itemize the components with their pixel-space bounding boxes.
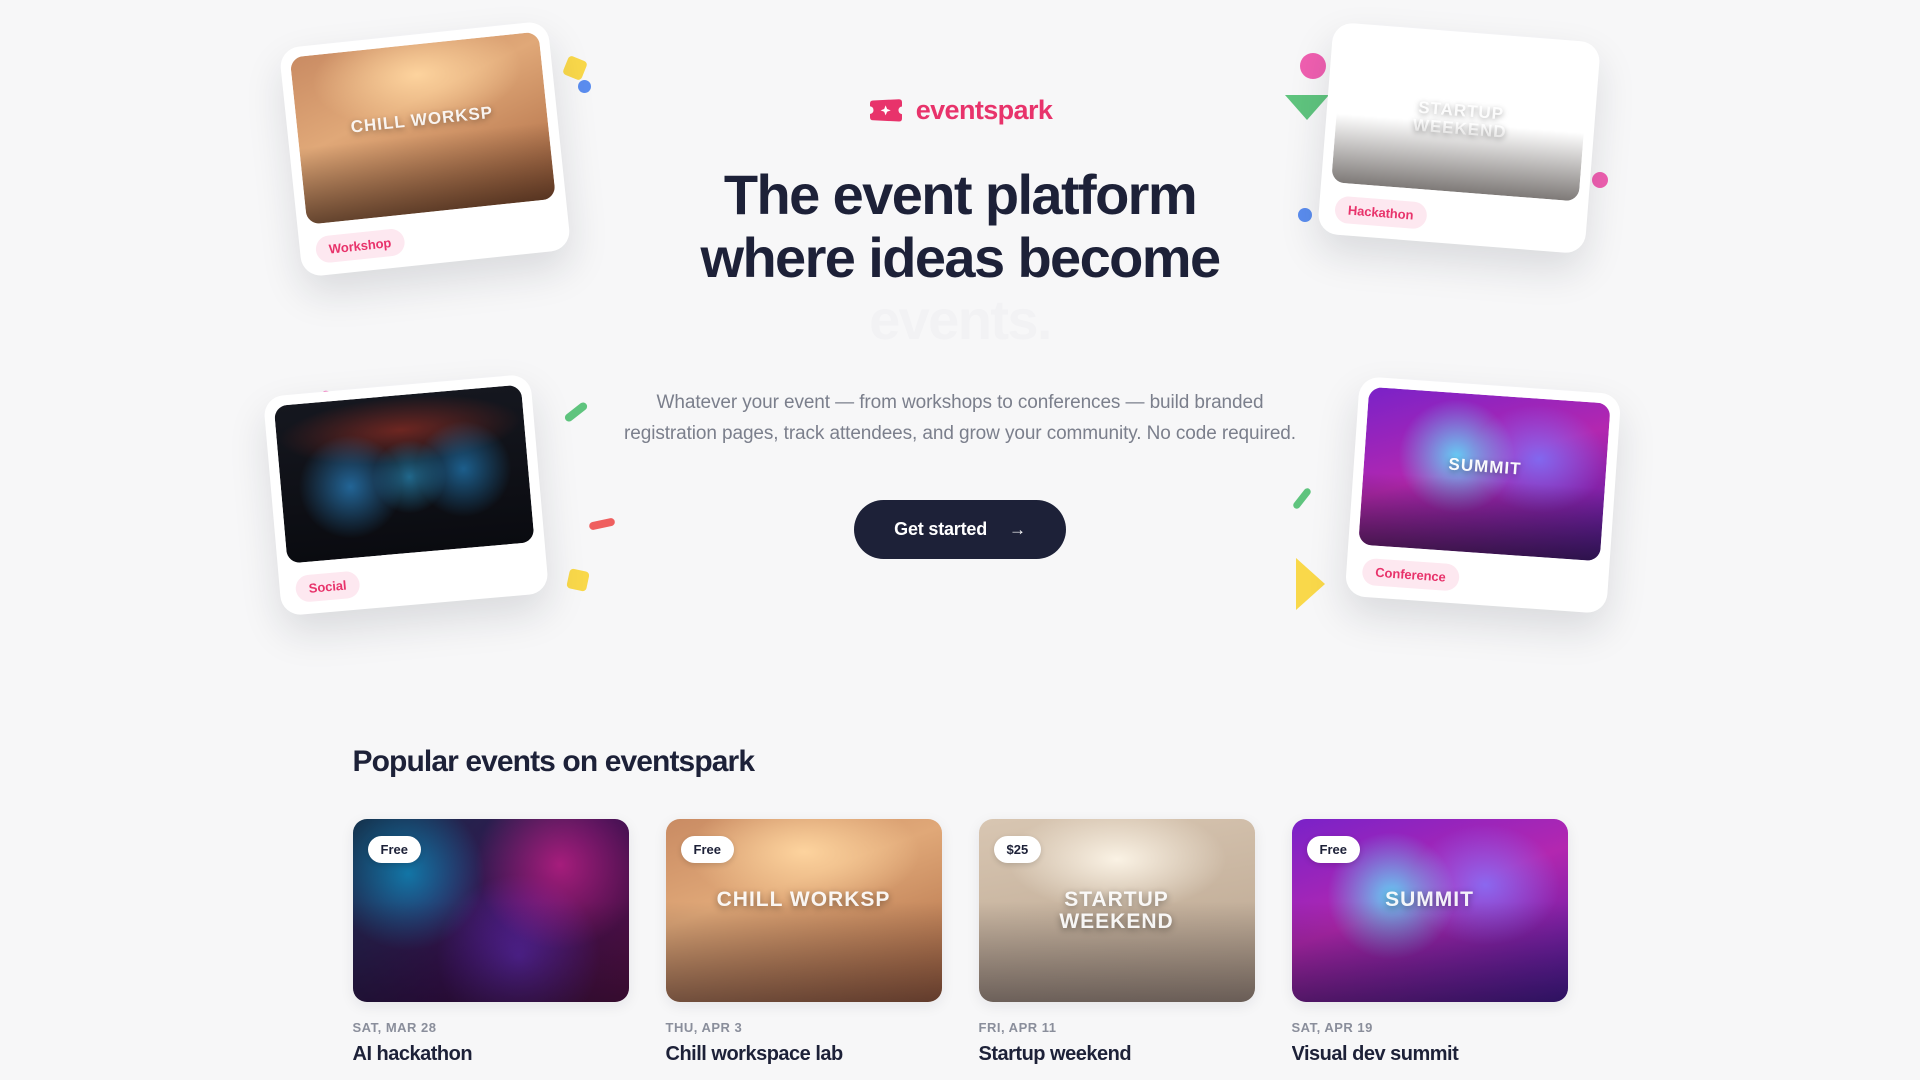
page-title: The event platform where ideas become ev… [610,164,1310,352]
hero-content: eventspark The event platform where idea… [610,95,1310,559]
confetti-dot [1592,172,1608,188]
hero-card-tag: Workshop [315,227,406,263]
headline-line-2: where ideas become [700,226,1219,289]
thumbnail-caption: SUMMIT [1292,889,1568,911]
event-card[interactable]: SUMMITFreeSAT, APR 19Visual dev summit [1292,819,1568,1066]
event-thumbnail: CHILL WORKSPFree [666,819,942,1002]
hero-card-photo: CHILL WORKSP [290,32,556,225]
event-name: Startup weekend [979,1043,1255,1066]
photo-caption [279,448,526,470]
confetti-sq [566,568,590,592]
event-card[interactable]: STARTUPWEEKEND$25FRI, APR 11Startup week… [979,819,1255,1066]
arrow-right-icon: → [1009,521,1026,538]
popular-events-section: Popular events on eventspark FreeSAT, MA… [0,745,1920,1066]
event-date: SAT, APR 19 [1292,1020,1568,1035]
confetti-dot [1300,53,1326,79]
get-started-button[interactable]: Get started → [854,500,1066,559]
section-title: Popular events on eventspark [353,745,1568,779]
event-card[interactable]: CHILL WORKSPFreeTHU, APR 3Chill workspac… [666,819,942,1066]
event-date: FRI, APR 11 [979,1020,1255,1035]
confetti-tri2 [1296,558,1325,610]
event-date: THU, APR 3 [666,1020,942,1035]
hero-card-social[interactable]: Social [263,374,549,617]
headline-line-3: events. [869,288,1051,351]
event-card[interactable]: FreeSAT, MAR 28AI hackathon [353,819,629,1066]
price-badge: Free [1307,836,1360,863]
thumbnail-caption: STARTUPWEEKEND [979,889,1255,933]
event-thumbnail: Free [353,819,629,1002]
hero-card-tag: Social [295,570,361,602]
brand-logo[interactable]: eventspark [610,95,1310,126]
hero-card-hackathon[interactable]: STARTUPWEEKEND Hackathon [1317,22,1601,254]
hero-card-workshop[interactable]: CHILL WORKSP Workshop [279,21,572,278]
brand-name: eventspark [916,95,1053,126]
hero-card-photo: SUMMIT [1358,387,1610,561]
ticket-icon [868,98,904,123]
event-name: Chill workspace lab [666,1043,942,1066]
hero-card-photo: STARTUPWEEKEND [1331,33,1590,202]
headline-line-1: The event platform [724,163,1196,226]
hero-card-tag: Conference [1361,557,1459,591]
price-badge: Free [681,836,734,863]
event-name: Visual dev summit [1292,1043,1568,1066]
price-badge: Free [368,836,421,863]
get-started-label: Get started [894,519,987,540]
confetti-sq [562,55,588,81]
landing-page: CHILL WORKSP Workshop STARTUPWEEKEND Hac… [0,0,1920,1080]
cta-container: Get started → [610,500,1310,559]
event-thumbnail: STARTUPWEEKEND$25 [979,819,1255,1002]
hero-card-photo [274,385,535,564]
event-thumbnail: SUMMITFree [1292,819,1568,1002]
hero-subtitle: Whatever your event — from workshops to … [610,388,1310,450]
hero-card-conference[interactable]: SUMMIT Conference [1345,376,1622,614]
price-badge: $25 [994,836,1042,863]
event-name: AI hackathon [353,1043,629,1066]
confetti-dot [578,80,591,93]
thumbnail-caption: CHILL WORKSP [666,889,942,911]
hero-card-tag: Hackathon [1334,195,1427,229]
hero-section: CHILL WORKSP Workshop STARTUPWEEKEND Hac… [0,0,1920,745]
event-date: SAT, MAR 28 [353,1020,629,1035]
confetti-dash [563,401,588,423]
events-grid: FreeSAT, MAR 28AI hackathonCHILL WORKSPF… [353,819,1568,1066]
